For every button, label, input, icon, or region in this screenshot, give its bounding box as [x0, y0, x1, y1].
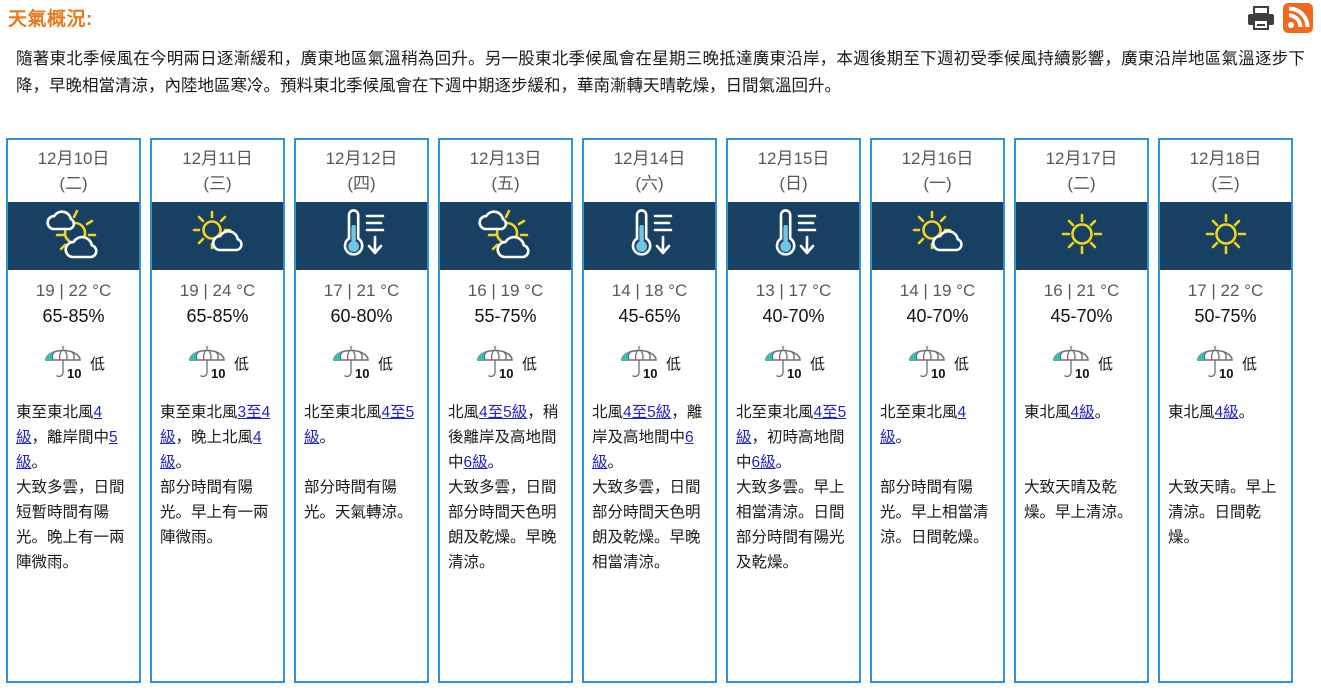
- wind-forecast-text: 北風4至5級，稍後離岸及高地間中6級。: [448, 400, 563, 475]
- page-header: 天氣概況: 隨著東北季候風在今明兩日逐漸緩和，廣東地區氣溫稍為回: [0, 0, 1321, 100]
- page-title: 天氣概況:: [8, 8, 1311, 32]
- temperature-range: 14 | 18 °C: [584, 270, 715, 301]
- temperature-range: 13 | 17 °C: [728, 270, 859, 301]
- wind-forecast-text: 東北風4級。: [1024, 400, 1139, 475]
- uv-index-row: 10 低: [8, 327, 139, 396]
- cloudy-with-sunny-intervals-icon: [475, 205, 537, 268]
- temperature-range: 16 | 21 °C: [1016, 270, 1147, 301]
- forecast-date: 12月15日(日): [728, 140, 859, 202]
- sunny-periods-icon: [907, 206, 969, 267]
- wind-force-link[interactable]: 4至5級: [736, 404, 846, 446]
- wind-forecast-text: 北至東北風4至5級，初時高地間中6級。: [736, 400, 851, 475]
- svg-text:10: 10: [499, 366, 513, 381]
- humidity-range: 40-70%: [728, 301, 859, 327]
- forecast-date: 12月13日(五): [440, 140, 571, 202]
- humidity-range: 55-75%: [440, 301, 571, 327]
- weather-icon-band: [584, 202, 715, 270]
- humidity-range: 65-85%: [152, 301, 283, 327]
- wind-force-link[interactable]: 4至5級: [623, 404, 671, 421]
- forecast-day-card: 12月11日(三) 19 | 24 °C65-85% 10 低東至東北風3至4級…: [150, 138, 285, 683]
- weather-icon-band: [1160, 202, 1291, 270]
- weather-description-text: 大致多雲，日間部分時間天色明朗及乾燥。早晚相當清涼。: [592, 475, 707, 575]
- wind-force-link[interactable]: 4級: [160, 429, 262, 471]
- forecast-weekday-label: (四): [296, 171, 427, 196]
- forecast-text-body: 北風4至5級，稍後離岸及高地間中6級。大致多雲，日間部分時間天色明朗及乾燥。早晚…: [440, 396, 571, 681]
- forecast-weekday-label: (一): [872, 171, 1003, 196]
- weather-description-text: 大致多雲，日間短暫時間有陽光。晚上有一兩陣微雨。: [16, 475, 131, 575]
- forecast-text-body: 北至東北風4至5級，初時高地間中6級。大致多雲。早上相當清涼。日間部分時間有陽光…: [728, 396, 859, 681]
- temperature-range: 16 | 19 °C: [440, 270, 571, 301]
- uv-index-row: 10 低: [872, 327, 1003, 396]
- forecast-day-card: 12月14日(六) 14 | 18 °C45-65% 10 低北風4至5級，離岸…: [582, 138, 717, 683]
- uv-level-label: 低: [90, 353, 105, 374]
- svg-text:10: 10: [1219, 366, 1233, 381]
- humidity-range: 65-85%: [8, 301, 139, 327]
- weather-description-text: 大致天晴及乾燥。早上清涼。: [1024, 475, 1139, 525]
- wind-force-link[interactable]: 4級: [16, 404, 102, 446]
- forecast-weekday-label: (五): [440, 171, 571, 196]
- uv-level-label: 低: [954, 353, 969, 374]
- forecast-date: 12月14日(六): [584, 140, 715, 202]
- uv-index-row: 10 低: [152, 327, 283, 396]
- forecast-date-label: 12月13日: [470, 149, 542, 168]
- sunny-icon: [1054, 206, 1110, 267]
- svg-text:10: 10: [355, 366, 369, 381]
- uv-level-label: 低: [1098, 353, 1113, 374]
- wind-forecast-text: 北至東北風4至5級。: [304, 400, 419, 475]
- weather-description-text: 大致多雲，日間部分時間天色明朗及乾燥。早晚清涼。: [448, 475, 563, 575]
- uv-level-label: 低: [1242, 353, 1257, 374]
- wind-force-link[interactable]: 5級: [16, 429, 118, 471]
- forecast-weekday-label: (二): [1016, 171, 1147, 196]
- forecast-day-card: 12月10日(二) 19 | 22 °C65-85% 10 低東至東北風4級，離…: [6, 138, 141, 683]
- forecast-date: 12月17日(二): [1016, 140, 1147, 202]
- forecast-weekday-label: (三): [1160, 171, 1291, 196]
- forecast-day-card: 12月17日(二) 16 | 21 °C45-70% 10 低東北風4級。大致天…: [1014, 138, 1149, 683]
- forecast-weekday-label: (二): [8, 171, 139, 196]
- humidity-range: 40-70%: [872, 301, 1003, 327]
- umbrella-uv-icon: 10: [1194, 341, 1236, 386]
- nine-day-forecast-strip: 12月10日(二) 19 | 22 °C65-85% 10 低東至東北風4級，離…: [6, 138, 1316, 683]
- uv-level-label: 低: [234, 353, 249, 374]
- weather-icon-band: [872, 202, 1003, 270]
- wind-force-link[interactable]: 6級: [464, 454, 488, 471]
- forecast-date: 12月18日(三): [1160, 140, 1291, 202]
- temperature-range: 17 | 22 °C: [1160, 270, 1291, 301]
- forecast-text-body: 北至東北風4級。部分時間有陽光。早上相當清涼。日間乾燥。: [872, 396, 1003, 681]
- forecast-day-card: 12月18日(三) 17 | 22 °C50-75% 10 低東北風4級。大致天…: [1158, 138, 1293, 683]
- wind-force-link[interactable]: 4級: [880, 404, 966, 446]
- weather-icon-band: [152, 202, 283, 270]
- umbrella-uv-icon: 10: [186, 341, 228, 386]
- forecast-weekday-label: (六): [584, 171, 715, 196]
- svg-text:10: 10: [931, 366, 945, 381]
- svg-text:10: 10: [787, 366, 801, 381]
- wind-force-link[interactable]: 4至5級: [304, 404, 414, 446]
- svg-text:10: 10: [211, 366, 225, 381]
- forecast-day-card: 12月13日(五) 16 | 19 °C55-75% 10 低北風4至5級，稍後…: [438, 138, 573, 683]
- humidity-range: 45-65%: [584, 301, 715, 327]
- wind-force-link[interactable]: 6級: [592, 429, 694, 471]
- uv-level-label: 低: [666, 353, 681, 374]
- weather-summary-text: 隨著東北季候風在今明兩日逐漸緩和，廣東地區氣溫稍為回升。另一股東北季候風會在星期…: [16, 46, 1305, 100]
- forecast-date-label: 12月12日: [326, 149, 398, 168]
- forecast-date-label: 12月17日: [1046, 149, 1118, 168]
- weather-description-text: 大致天晴。早上清涼。日間乾燥。: [1168, 475, 1283, 550]
- forecast-text-body: 東至東北風4級，離岸間中5級。大致多雲，日間短暫時間有陽光。晚上有一兩陣微雨。: [8, 396, 139, 681]
- uv-index-row: 10 低: [584, 327, 715, 396]
- weather-description-text: 大致多雲。早上相當清涼。日間部分時間有陽光及乾燥。: [736, 475, 851, 575]
- uv-index-row: 10 低: [296, 327, 427, 396]
- umbrella-uv-icon: 10: [762, 341, 804, 386]
- forecast-text-body: 東北風4級。大致天晴及乾燥。早上清涼。: [1016, 396, 1147, 681]
- weather-icon-band: [440, 202, 571, 270]
- uv-level-label: 低: [810, 353, 825, 374]
- umbrella-uv-icon: 10: [618, 341, 660, 386]
- umbrella-uv-icon: 10: [474, 341, 516, 386]
- humidity-range: 45-70%: [1016, 301, 1147, 327]
- weather-icon-band: [728, 202, 859, 270]
- wind-force-link[interactable]: 6級: [752, 454, 776, 471]
- forecast-date-label: 12月18日: [1190, 149, 1262, 168]
- forecast-day-card: 12月12日(四) 17 | 21 °C60-80% 10 低北至東北風4至5級…: [294, 138, 429, 683]
- weather-description-text: 部分時間有陽光。早上有一兩陣微雨。: [160, 475, 275, 550]
- rss-feed-icon[interactable]: [1283, 3, 1313, 33]
- weather-description-text: 部分時間有陽光。天氣轉涼。: [304, 475, 419, 525]
- sunny-icon: [1198, 206, 1254, 267]
- forecast-date-label: 12月10日: [38, 149, 110, 168]
- temperature-range: 17 | 21 °C: [296, 270, 427, 301]
- wind-force-link[interactable]: 4至5級: [479, 404, 527, 421]
- umbrella-uv-icon: 10: [42, 341, 84, 386]
- wind-forecast-text: 東至東北風4級，離岸間中5級。: [16, 400, 131, 475]
- weather-icon-band: [1016, 202, 1147, 270]
- wind-force-link[interactable]: 4級: [1215, 404, 1239, 421]
- forecast-text-body: 東至東北風3至4級，晚上北風4級。部分時間有陽光。早上有一兩陣微雨。: [152, 396, 283, 681]
- svg-text:10: 10: [643, 366, 657, 381]
- wind-forecast-text: 東北風4級。: [1168, 400, 1283, 475]
- forecast-date-label: 12月11日: [182, 149, 253, 168]
- forecast-text-body: 東北風4級。大致天晴。早上清涼。日間乾燥。: [1160, 396, 1291, 681]
- printer-icon[interactable]: [1246, 3, 1276, 33]
- umbrella-uv-icon: 10: [330, 341, 372, 386]
- uv-level-label: 低: [522, 353, 537, 374]
- forecast-text-body: 北風4至5級，離岸及高地間中6級。大致多雲，日間部分時間天色明朗及乾燥。早晚相當…: [584, 396, 715, 681]
- forecast-date-label: 12月16日: [902, 149, 974, 168]
- forecast-weekday-label: (日): [728, 171, 859, 196]
- forecast-text-body: 北至東北風4至5級。部分時間有陽光。天氣轉涼。: [296, 396, 427, 681]
- svg-text:10: 10: [1075, 366, 1089, 381]
- forecast-date: 12月10日(二): [8, 140, 139, 202]
- forecast-weekday-label: (三): [152, 171, 283, 196]
- umbrella-uv-icon: 10: [906, 341, 948, 386]
- uv-index-row: 10 低: [1160, 327, 1291, 396]
- uv-index-row: 10 低: [728, 327, 859, 396]
- weather-icon-band: [296, 202, 427, 270]
- header-action-icons: [1246, 3, 1313, 33]
- wind-forecast-text: 北至東北風4級。: [880, 400, 995, 475]
- temperature-range: 19 | 24 °C: [152, 270, 283, 301]
- cold-weather-icon: [765, 205, 823, 268]
- temperature-range: 14 | 19 °C: [872, 270, 1003, 301]
- sunny-periods-icon: [187, 206, 249, 267]
- humidity-range: 50-75%: [1160, 301, 1291, 327]
- weather-description-text: 部分時間有陽光。早上相當清涼。日間乾燥。: [880, 475, 995, 550]
- forecast-day-card: 12月16日(一) 14 | 19 °C40-70% 10 低北至東北風4級。部…: [870, 138, 1005, 683]
- wind-forecast-text: 北風4至5級，離岸及高地間中6級。: [592, 400, 707, 475]
- forecast-date-label: 12月15日: [758, 149, 830, 168]
- cloudy-with-sunny-intervals-icon: [43, 205, 105, 268]
- weather-icon-band: [8, 202, 139, 270]
- svg-text:10: 10: [67, 366, 81, 381]
- uv-index-row: 10 低: [1016, 327, 1147, 396]
- forecast-date: 12月16日(一): [872, 140, 1003, 202]
- umbrella-uv-icon: 10: [1050, 341, 1092, 386]
- forecast-date: 12月12日(四): [296, 140, 427, 202]
- wind-forecast-text: 東至東北風3至4級，晚上北風4級。: [160, 400, 275, 475]
- cold-weather-icon: [621, 205, 679, 268]
- forecast-date: 12月11日(三): [152, 140, 283, 202]
- forecast-day-card: 12月15日(日) 13 | 17 °C40-70% 10 低北至東北風4至5級…: [726, 138, 861, 683]
- humidity-range: 60-80%: [296, 301, 427, 327]
- wind-force-link[interactable]: 4級: [1071, 404, 1095, 421]
- uv-index-row: 10 低: [440, 327, 571, 396]
- forecast-date-label: 12月14日: [614, 149, 686, 168]
- cold-weather-icon: [333, 205, 391, 268]
- weather-forecast-page: 天氣概況: 隨著東北季候風在今明兩日逐漸緩和，廣東地區氣溫稍為回: [0, 0, 1321, 690]
- temperature-range: 19 | 22 °C: [8, 270, 139, 301]
- uv-level-label: 低: [378, 353, 393, 374]
